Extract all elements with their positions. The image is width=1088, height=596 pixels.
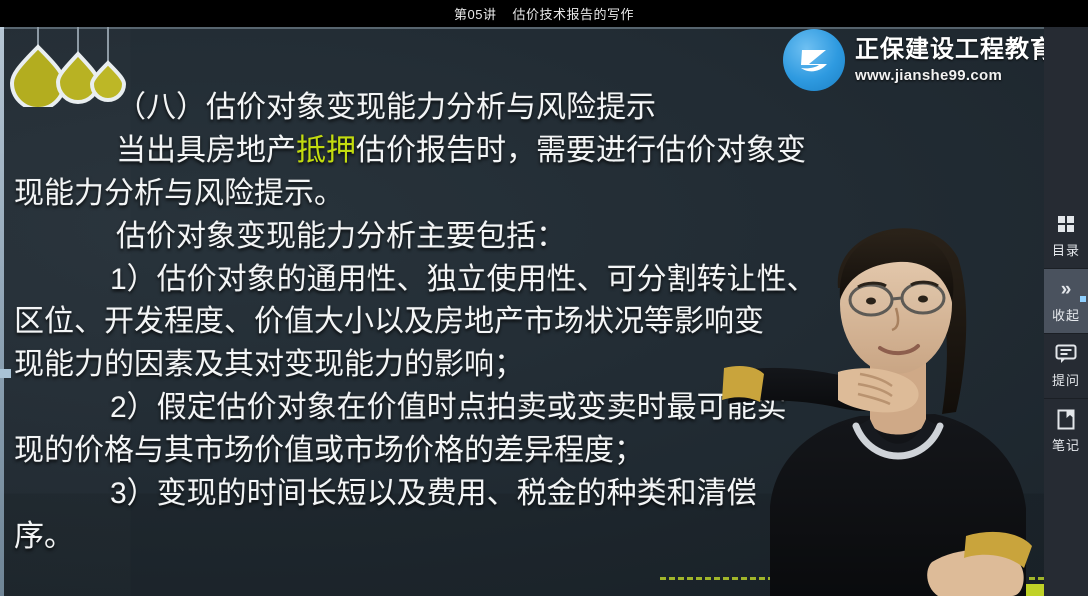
video-player: 第05讲 估价技术报告的写作 — [0, 0, 1088, 596]
rail-item-label: 笔记 — [1052, 435, 1080, 454]
rail-item-notes[interactable]: 笔记 — [1044, 398, 1088, 463]
slide-line-item1c: 现能力的因素及其对变现能力的影响； — [0, 344, 900, 387]
rail-item-ask[interactable]: 提问 — [1044, 333, 1088, 398]
grid-icon — [1056, 213, 1076, 235]
slide-highlight-term: 抵押 — [296, 134, 356, 167]
slide-line-item3b: 序。 — [0, 516, 900, 559]
slide-stage: 正保建设工程教育网 www.jianshe99.com （八）估价对象变现能力分… — [0, 27, 1088, 596]
z-swoosh-logo-icon — [783, 29, 845, 91]
slide-line-item1a: 1）估价对象的通用性、独立使用性、可分割转让性、 — [0, 259, 900, 302]
slide-line-p1b: 现能力分析与风险提示。 — [0, 173, 900, 216]
brand-logo: 正保建设工程教育网 www.jianshe99.com — [783, 29, 1080, 91]
slide-line-text-pre: 当出具房地产 — [116, 134, 296, 167]
teardrop-decoration — [6, 27, 136, 107]
slide-text-body: （八）估价对象变现能力分析与风险提示当出具房地产抵押估价报告时，需要进行估价对象… — [0, 87, 900, 559]
rail-item-label: 提问 — [1052, 370, 1080, 389]
tool-rail: 目录»收起提问笔记 — [1044, 27, 1088, 596]
slide-left-marker — [0, 369, 11, 378]
slide-dashed-rule — [660, 577, 1080, 580]
slide-line-text-post: 估价报告时，需要进行估价对象变 — [356, 134, 806, 167]
rail-item-label: 目录 — [1052, 240, 1080, 259]
slide-line-item1b: 区位、开发程度、价值大小以及房地产市场状况等影响变 — [0, 301, 900, 344]
z-letter-icon — [791, 37, 837, 83]
rail-active-indicator — [1080, 296, 1086, 302]
rail-item-label: 收起 — [1052, 305, 1080, 324]
teardrops-icon — [6, 27, 136, 107]
speech-bubble-icon — [1055, 343, 1077, 365]
note-icon — [1057, 408, 1075, 430]
slide-line-item2a: 2）假定估价对象在价值时点拍卖或变卖时最可能实 — [0, 387, 900, 430]
rail-item-collapse[interactable]: »收起 — [1044, 268, 1088, 333]
slide-accent-swatch — [974, 584, 1044, 596]
slide-line-item2b: 现的价格与其市场价值或市场价格的差异程度； — [0, 430, 900, 473]
slide-line-p2: 估价对象变现能力分析主要包括： — [0, 216, 900, 259]
slide-left-edge — [0, 27, 4, 596]
chevron-right-icon: » — [1061, 278, 1072, 300]
rail-item-catalog[interactable]: 目录 — [1044, 203, 1088, 268]
lecture-title: 估价技术报告的写作 — [512, 4, 634, 23]
slide-line-p1a: 当出具房地产抵押估价报告时，需要进行估价对象变 — [0, 130, 900, 173]
slide-line-item3a: 3）变现的时间长短以及费用、税金的种类和清偿 — [0, 473, 900, 516]
lecture-number: 第05讲 — [454, 4, 496, 23]
lecture-title-bar: 第05讲 估价技术报告的写作 — [0, 0, 1088, 27]
